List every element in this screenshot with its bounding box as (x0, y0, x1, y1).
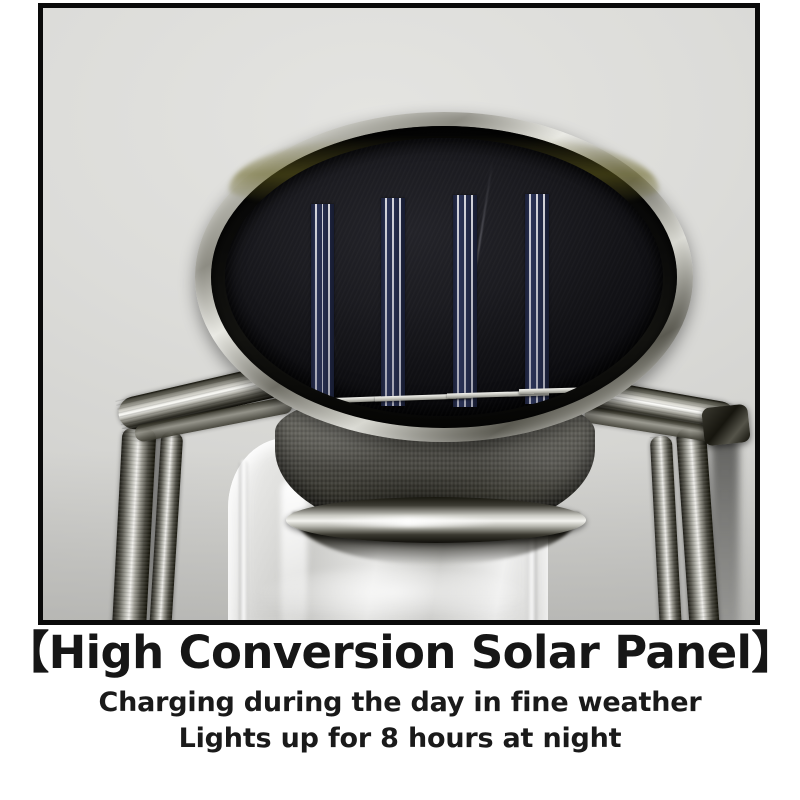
cell-finger (385, 198, 387, 406)
cell-finger (315, 204, 317, 404)
cell-finger (457, 195, 459, 407)
right-handle-joint-knob (701, 404, 751, 447)
cell-finger (322, 204, 324, 404)
cell-finger (536, 194, 538, 404)
solar-panel-face (225, 138, 663, 416)
cell-finger (529, 194, 531, 404)
glass-jar-ripple (253, 568, 533, 625)
solar-cell-strip (525, 194, 549, 404)
product-photo-frame (38, 3, 760, 625)
cell-finger (464, 195, 466, 407)
cell-finger (328, 204, 330, 404)
solar-cell-strip (381, 198, 405, 406)
product-image-page: 【High Conversion Solar Panel】 Charging d… (0, 0, 800, 800)
solar-cell-strip (311, 204, 334, 404)
caption-block: 【High Conversion Solar Panel】 Charging d… (0, 630, 800, 758)
cell-finger (399, 198, 401, 406)
caption-headline: 【High Conversion Solar Panel】 (0, 630, 800, 676)
cell-finger (543, 194, 545, 404)
lamp-cap-chrome-ring (286, 497, 586, 543)
solar-panel (195, 112, 693, 442)
caption-line-1: Charging during the day in fine weather (0, 685, 800, 721)
cell-finger (392, 198, 394, 406)
solar-panel-grain (225, 138, 663, 416)
cell-finger (471, 195, 473, 407)
caption-line-2: Lights up for 8 hours at night (0, 721, 800, 757)
solar-cell-strip (453, 195, 477, 407)
glass-jar-left-edge (239, 460, 248, 625)
